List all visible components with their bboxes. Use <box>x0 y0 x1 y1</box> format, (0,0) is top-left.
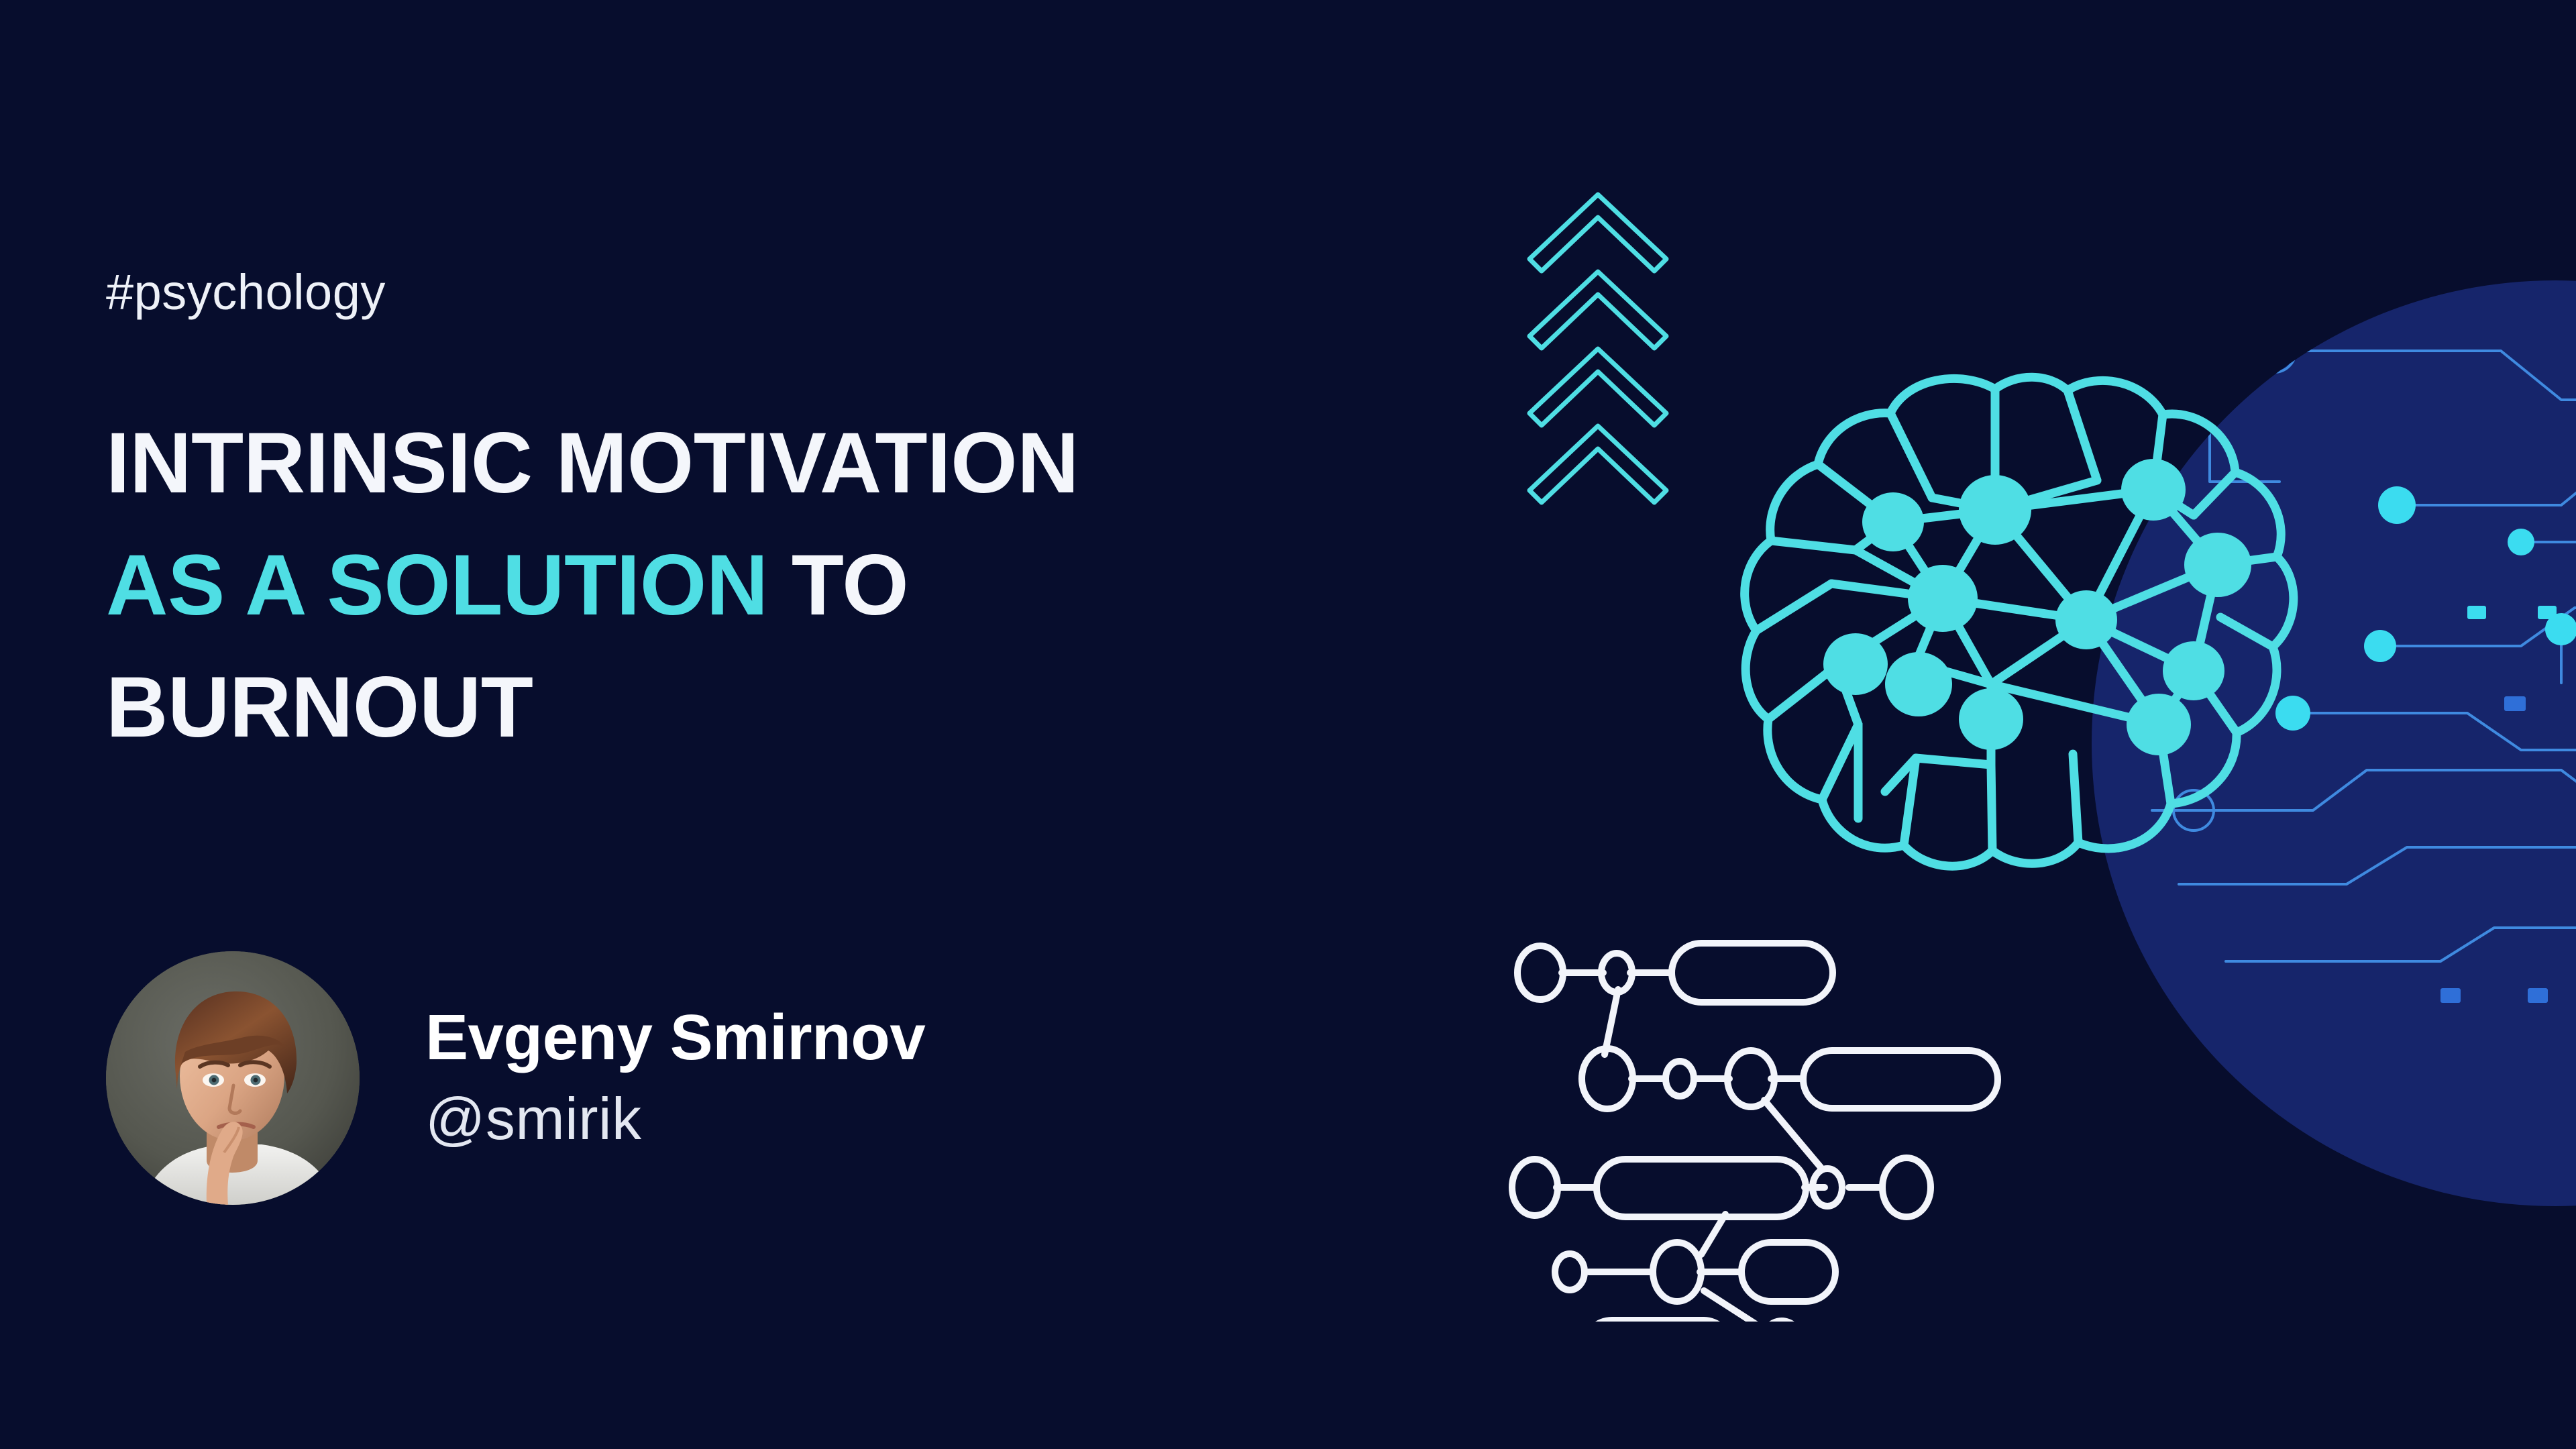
node-graph-icon <box>1476 899 2187 1322</box>
brain-network-icon <box>1724 349 2348 879</box>
headline-line-2-rest: TO <box>768 537 909 633</box>
avatar <box>106 951 360 1205</box>
headline-line-2: AS A SOLUTION TO <box>106 525 1448 647</box>
page-title: INTRINSIC MOTIVATION AS A SOLUTION TO BU… <box>106 402 1448 768</box>
headline-accent-text: AS A SOLUTION <box>106 537 768 633</box>
headline-line-1: INTRINSIC MOTIVATION <box>106 402 1448 525</box>
chevron-up-icon-stack <box>1517 188 1678 637</box>
author-block: Evgeny Smirnov @smirik <box>106 951 925 1205</box>
slide-content: #psychology INTRINSIC MOTIVATION AS A SO… <box>106 0 1481 1449</box>
author-meta: Evgeny Smirnov @smirik <box>425 1002 925 1154</box>
headline-line-3: BURNOUT <box>106 647 1448 769</box>
presentation-slide: #psychology INTRINSIC MOTIVATION AS A SO… <box>0 0 2576 1449</box>
topic-hashtag: #psychology <box>106 268 386 317</box>
author-handle: @smirik <box>425 1083 925 1155</box>
author-name: Evgeny Smirnov <box>425 1002 925 1074</box>
